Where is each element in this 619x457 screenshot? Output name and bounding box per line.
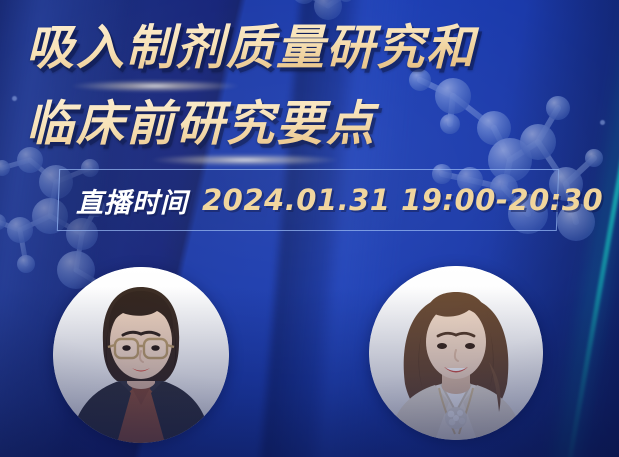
background-vignette bbox=[0, 0, 619, 457]
live-session-poster: 吸入制剂质量研究和 临床前研究要点 直播时间 2024.01.31 19:00-… bbox=[0, 0, 619, 457]
